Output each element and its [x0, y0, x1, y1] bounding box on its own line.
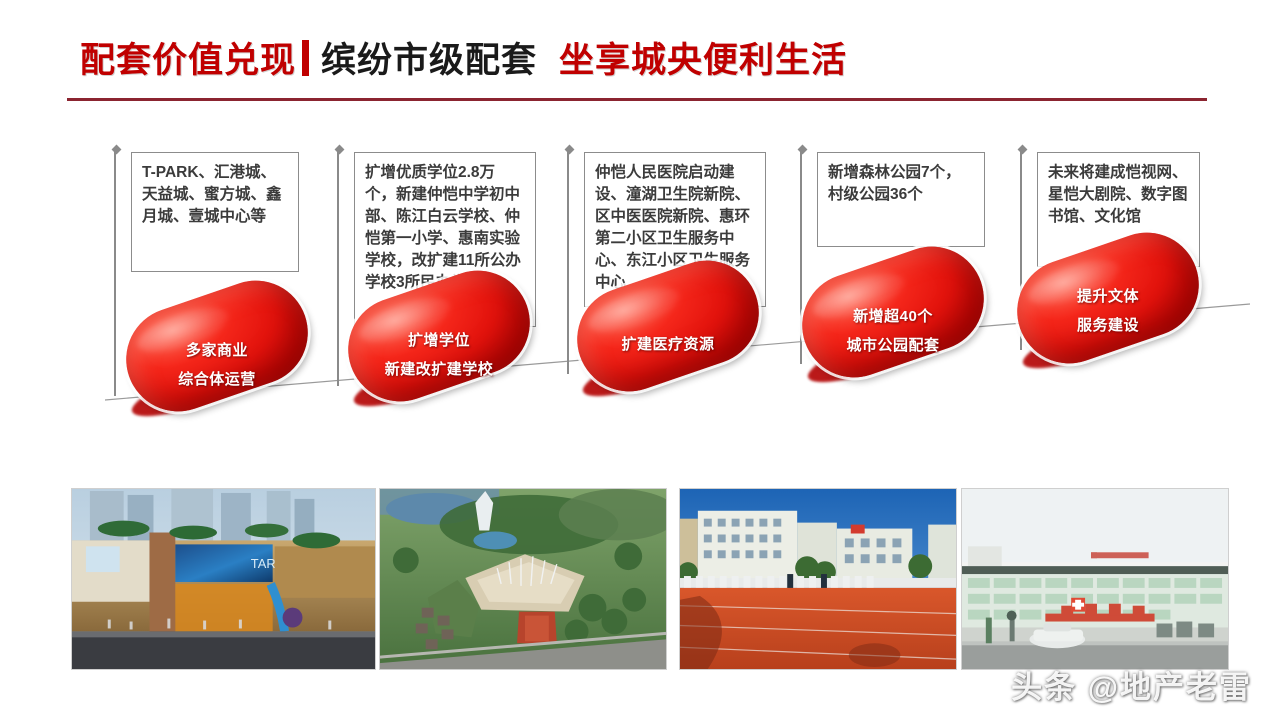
stem-dot-1 — [111, 145, 121, 155]
photo-hospital — [961, 488, 1229, 670]
pill-1[interactable]: 多家商业 综合体运营 — [122, 292, 312, 414]
photo-school-track — [679, 488, 957, 670]
photo-commercial-complex-image: TARK — [72, 489, 375, 669]
stem-2 — [337, 150, 339, 386]
title-segment-red-1: 配套价值兑现 — [80, 32, 296, 83]
title-segment-black: 缤纷市级配套 — [321, 32, 537, 83]
infographic-diagram: T-PARK、汇港城、天益城、蜜方城、鑫月城、壹城中心等 多家商业 综合体运营 … — [0, 110, 1270, 485]
pill-4[interactable]: 新增超40个 城市公园配套 — [798, 258, 988, 380]
stem-dot-2 — [334, 145, 344, 155]
photo-school-track-image — [680, 489, 956, 669]
photo-park-aerial — [379, 488, 667, 670]
photo-park-aerial-image — [380, 489, 666, 669]
stem-1 — [114, 150, 116, 396]
info-box-1: T-PARK、汇港城、天益城、蜜方城、鑫月城、壹城中心等 — [131, 152, 299, 272]
photo-hospital-image — [962, 489, 1228, 669]
stem-dot-4 — [797, 145, 807, 155]
header-rule — [67, 98, 1207, 101]
pill-5[interactable]: 提升文体 服务建设 — [1013, 244, 1203, 366]
stem-3 — [567, 150, 569, 374]
photo-strip: TARK — [0, 488, 1270, 673]
pill-3[interactable]: 扩建医疗资源 — [573, 272, 763, 394]
stem-dot-3 — [564, 145, 574, 155]
page-header: 配套价值兑现 缤纷市级配套 坐享城央便利生活 — [0, 0, 1270, 110]
title-segment-red-2: 坐享城央便利生活 — [559, 32, 847, 83]
stem-dot-5 — [1017, 145, 1027, 155]
watermark: 头条 @地产老雷 — [1011, 662, 1252, 707]
page-title: 配套价值兑现 缤纷市级配套 坐享城央便利生活 — [80, 32, 847, 83]
title-divider-bar — [302, 40, 309, 76]
photo-commercial-complex: TARK — [71, 488, 376, 670]
pill-2[interactable]: 扩增学位 新建改扩建学校 — [344, 282, 534, 404]
info-box-4: 新增森林公园7个，村级公园36个 — [817, 152, 985, 247]
